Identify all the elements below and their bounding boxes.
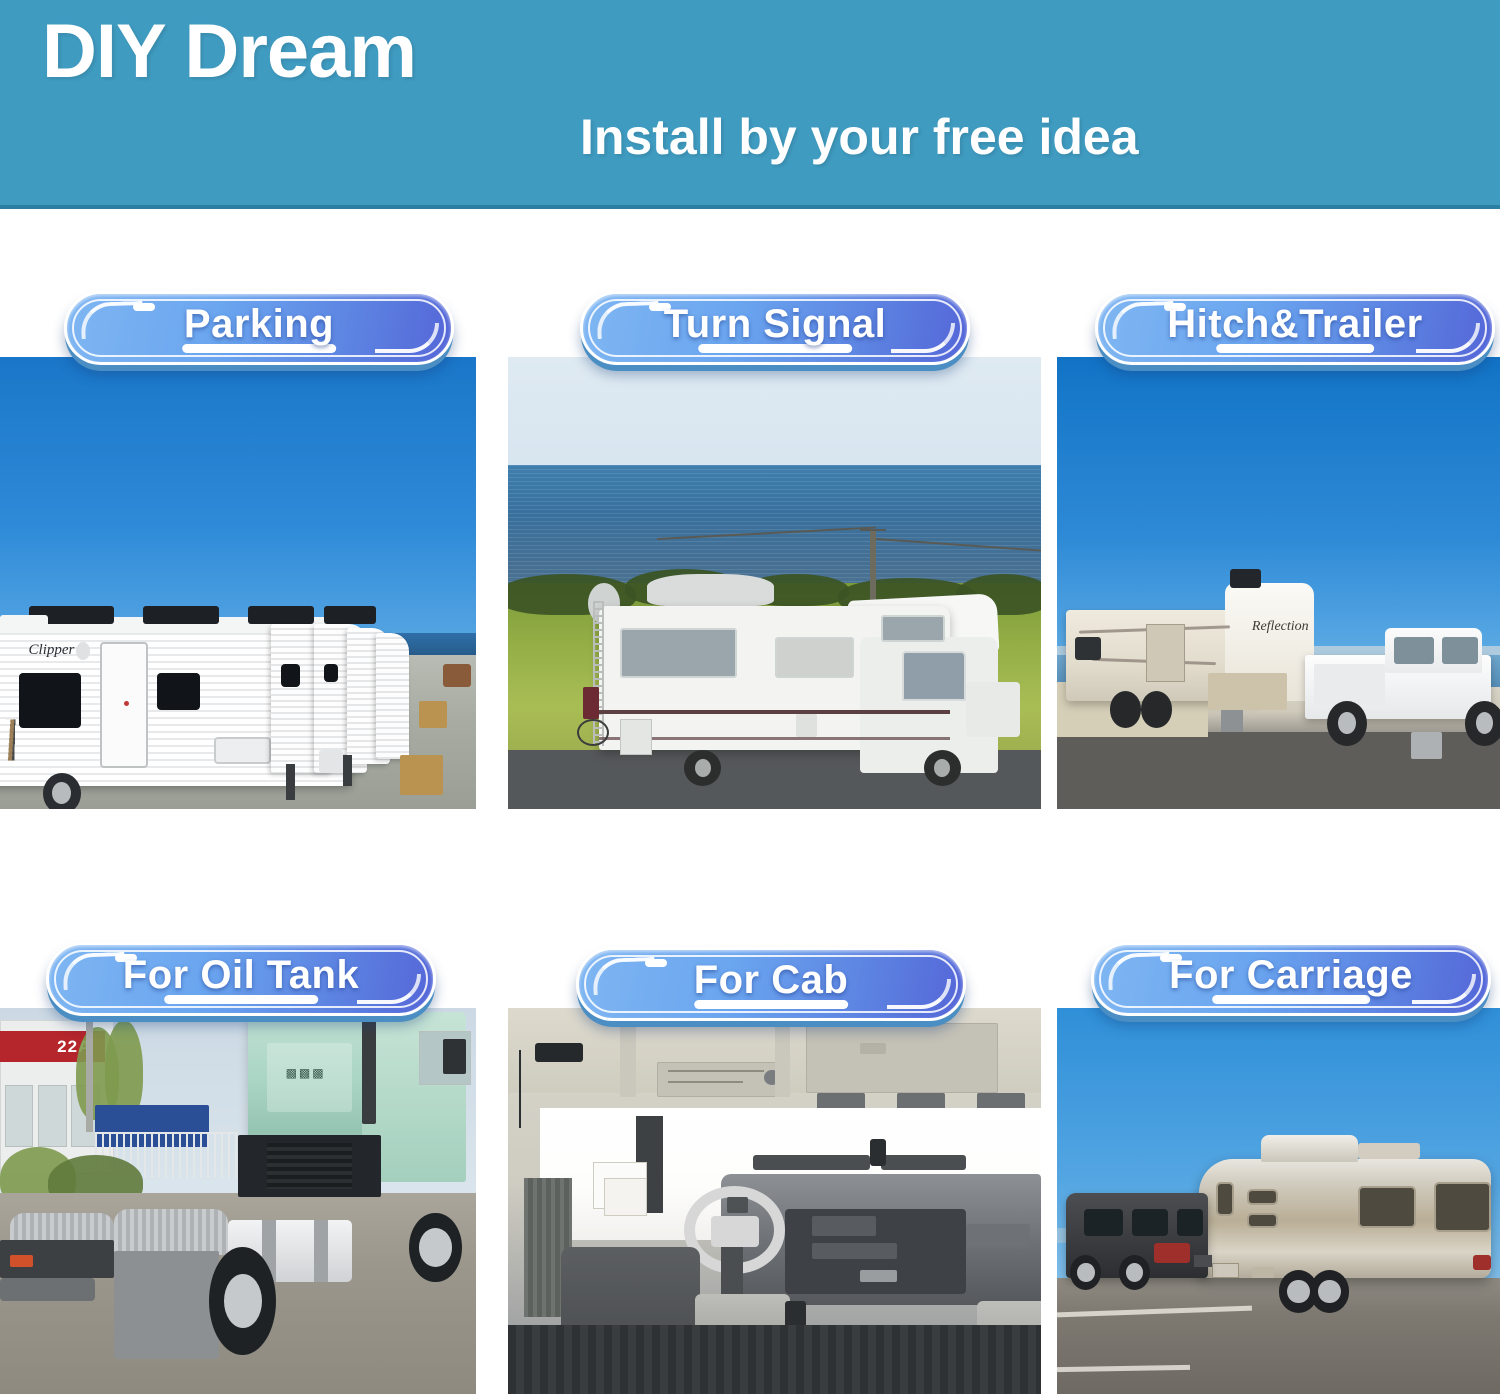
product-feature-poster: DIY Dream Install by your free idea Clip… [0, 0, 1500, 1394]
gloss-swoosh-icon [1416, 323, 1480, 353]
gloss-dot-icon [133, 303, 155, 311]
gloss-swoosh-icon [357, 974, 421, 1004]
badge-hitch-trailer[interactable]: Hitch&Trailer [1095, 291, 1495, 365]
gloss-highlight-icon [592, 957, 655, 995]
page-title: DIY Dream [42, 14, 416, 90]
feature-cell-for-oil-tank: 22A ▩▩▩ [0, 1008, 476, 1394]
badge-label: For Cab [694, 960, 849, 1009]
feature-cell-hitch-trailer: Reflection Hitch&Trailer [1057, 357, 1500, 809]
gloss-highlight-icon [596, 301, 659, 339]
badge-label: Turn Signal [664, 304, 887, 353]
gloss-swoosh-icon [375, 323, 439, 353]
trailer-brand-text: Reflection [1252, 619, 1296, 646]
gloss-highlight-icon [1111, 301, 1174, 339]
feature-cell-turn-signal: Turn Signal [508, 357, 1041, 809]
gloss-highlight-icon [80, 301, 143, 339]
badge-label: For Carriage [1169, 955, 1413, 1004]
gloss-dot-icon [645, 959, 667, 967]
photo-parking: Clipper [0, 357, 476, 809]
badge-for-oil-tank[interactable]: For Oil Tank [46, 942, 436, 1016]
badge-parking[interactable]: Parking [64, 291, 454, 365]
feature-cell-for-carriage: For Carriage [1057, 1008, 1500, 1394]
feature-cell-for-cab: For Cab [508, 1008, 1041, 1394]
badge-label: Parking [184, 304, 334, 353]
badge-for-cab[interactable]: For Cab [576, 947, 966, 1021]
badge-turn-signal[interactable]: Turn Signal [580, 291, 970, 365]
photo-for-oil-tank: 22A ▩▩▩ [0, 1008, 476, 1394]
photo-for-carriage [1057, 1008, 1500, 1394]
gloss-highlight-icon [62, 952, 125, 990]
photo-hitch-trailer: Reflection [1057, 357, 1500, 809]
gloss-swoosh-icon [891, 323, 955, 353]
photo-turn-signal [508, 357, 1041, 809]
badge-label: Hitch&Trailer [1167, 304, 1422, 353]
page-subtitle: Install by your free idea [580, 112, 1139, 162]
gloss-highlight-icon [1107, 952, 1170, 990]
trailer-brand-text: Clipper [29, 642, 86, 665]
gloss-swoosh-icon [887, 979, 951, 1009]
feature-cell-parking: Clipper Parking [0, 357, 476, 809]
badge-for-carriage[interactable]: For Carriage [1091, 942, 1491, 1016]
gloss-swoosh-icon [1412, 974, 1476, 1004]
photo-for-cab [508, 1008, 1041, 1394]
header-banner: DIY Dream Install by your free idea [0, 0, 1500, 209]
badge-label: For Oil Tank [123, 955, 359, 1004]
